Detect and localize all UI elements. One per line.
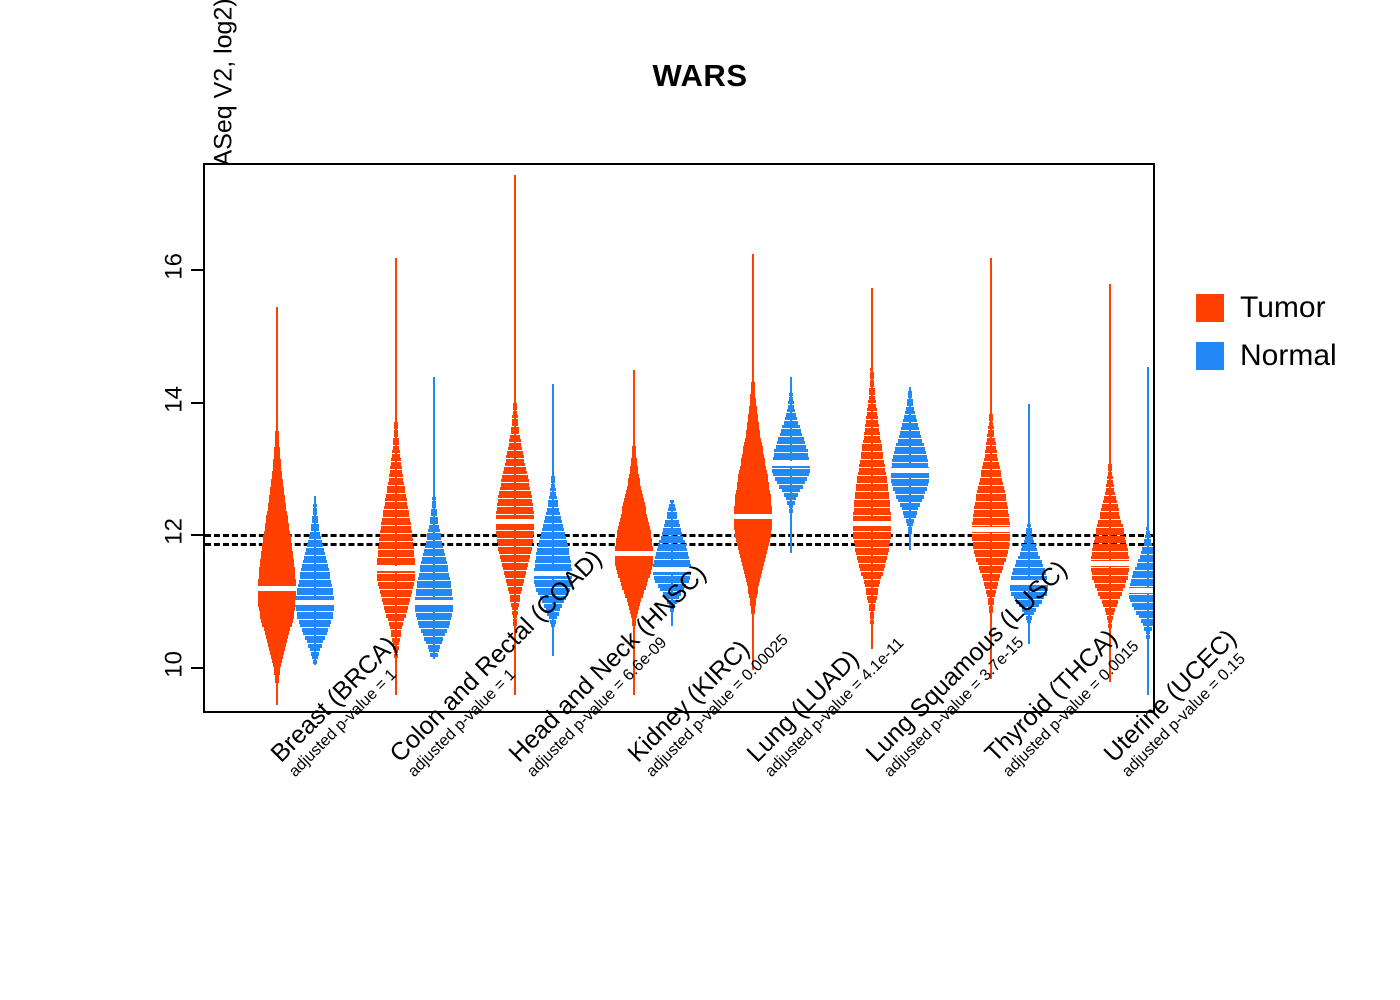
legend: TumorNormal bbox=[1196, 284, 1337, 380]
x-axis-label-group: Head and Neck (HNSC)adjusted p-value = 6… bbox=[503, 559, 725, 781]
legend-item-tumor[interactable]: Tumor bbox=[1196, 284, 1337, 332]
legend-label: Normal bbox=[1240, 341, 1337, 371]
x-axis-label-group: Colon and Rectal (COAD)adjusted p-value … bbox=[384, 545, 621, 782]
legend-swatch-tumor bbox=[1196, 294, 1224, 322]
x-axis-label-group: Breast (BRCA)adjusted p-value = 1 bbox=[265, 631, 415, 781]
x-axis-labels: Breast (BRCA)adjusted p-value = 1Colon a… bbox=[0, 0, 1400, 1000]
legend-swatch-normal bbox=[1196, 342, 1224, 370]
beanplot-page: WARS mRNA Expression (RNASeq V2, log2) 1… bbox=[0, 0, 1400, 1000]
x-axis-category-label: Breast (BRCA) bbox=[265, 631, 402, 768]
x-axis-label-group: Lung Squamous (LUSC)adjusted p-value = 3… bbox=[860, 555, 1086, 781]
legend-item-normal[interactable]: Normal bbox=[1196, 332, 1337, 380]
legend-label: Tumor bbox=[1240, 293, 1326, 323]
